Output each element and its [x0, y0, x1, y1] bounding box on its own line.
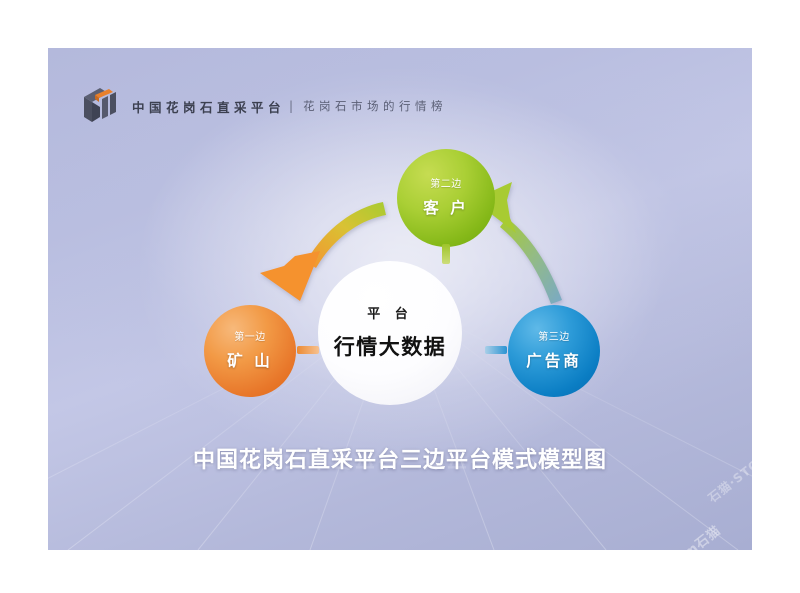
- node-mine-side-label: 第一边: [234, 333, 266, 343]
- brand-separator: |: [289, 99, 293, 113]
- node-platform-disc: [318, 261, 462, 405]
- connector-orange: [297, 346, 319, 354]
- node-mine[interactable]: 第一边 矿 山: [204, 305, 296, 397]
- node-advertiser[interactable]: 第三边 广告商: [508, 305, 600, 397]
- node-mine-disc: [204, 305, 296, 397]
- presentation-slide: 中国花岗石直采平台 | 花岗石市场的行情榜: [48, 48, 752, 550]
- node-advertiser-name-label: 广告商: [526, 354, 582, 370]
- connector-blue: [485, 346, 507, 354]
- slide-title-reflection: 中国花岗石直采平台三边平台模式模型图: [48, 444, 752, 476]
- node-advertiser-disc: [508, 305, 600, 397]
- brand-tagline: 花岗石市场的行情榜: [303, 98, 447, 114]
- hexagon-cube-logo-icon: [78, 86, 118, 126]
- node-customer[interactable]: 第二边 客 户: [397, 149, 495, 247]
- node-customer-disc: [397, 149, 495, 247]
- node-customer-side-label: 第二边: [430, 180, 462, 190]
- watermark-1: stm石猫: [666, 520, 724, 550]
- node-advertiser-side-label: 第三边: [538, 333, 570, 343]
- node-platform-side-label: 平 台: [367, 308, 413, 321]
- node-platform[interactable]: 平 台 行情大数据: [318, 261, 462, 405]
- node-mine-name-label: 矿 山: [227, 354, 272, 370]
- connector-green: [442, 244, 450, 264]
- slide-title-block: 中国花岗石直采平台三边平台模式模型图 中国花岗石直采平台三边平台模式模型图: [48, 442, 752, 508]
- screenshot-canvas: 中国花岗石直采平台 | 花岗石市场的行情榜: [0, 0, 800, 593]
- brand-name: 中国花岗石直采平台: [132, 97, 285, 116]
- node-customer-name-label: 客 户: [423, 201, 468, 217]
- slide-header: 中国花岗石直采平台 | 花岗石市场的行情榜: [78, 86, 447, 126]
- node-platform-name-label: 行情大数据: [334, 337, 447, 358]
